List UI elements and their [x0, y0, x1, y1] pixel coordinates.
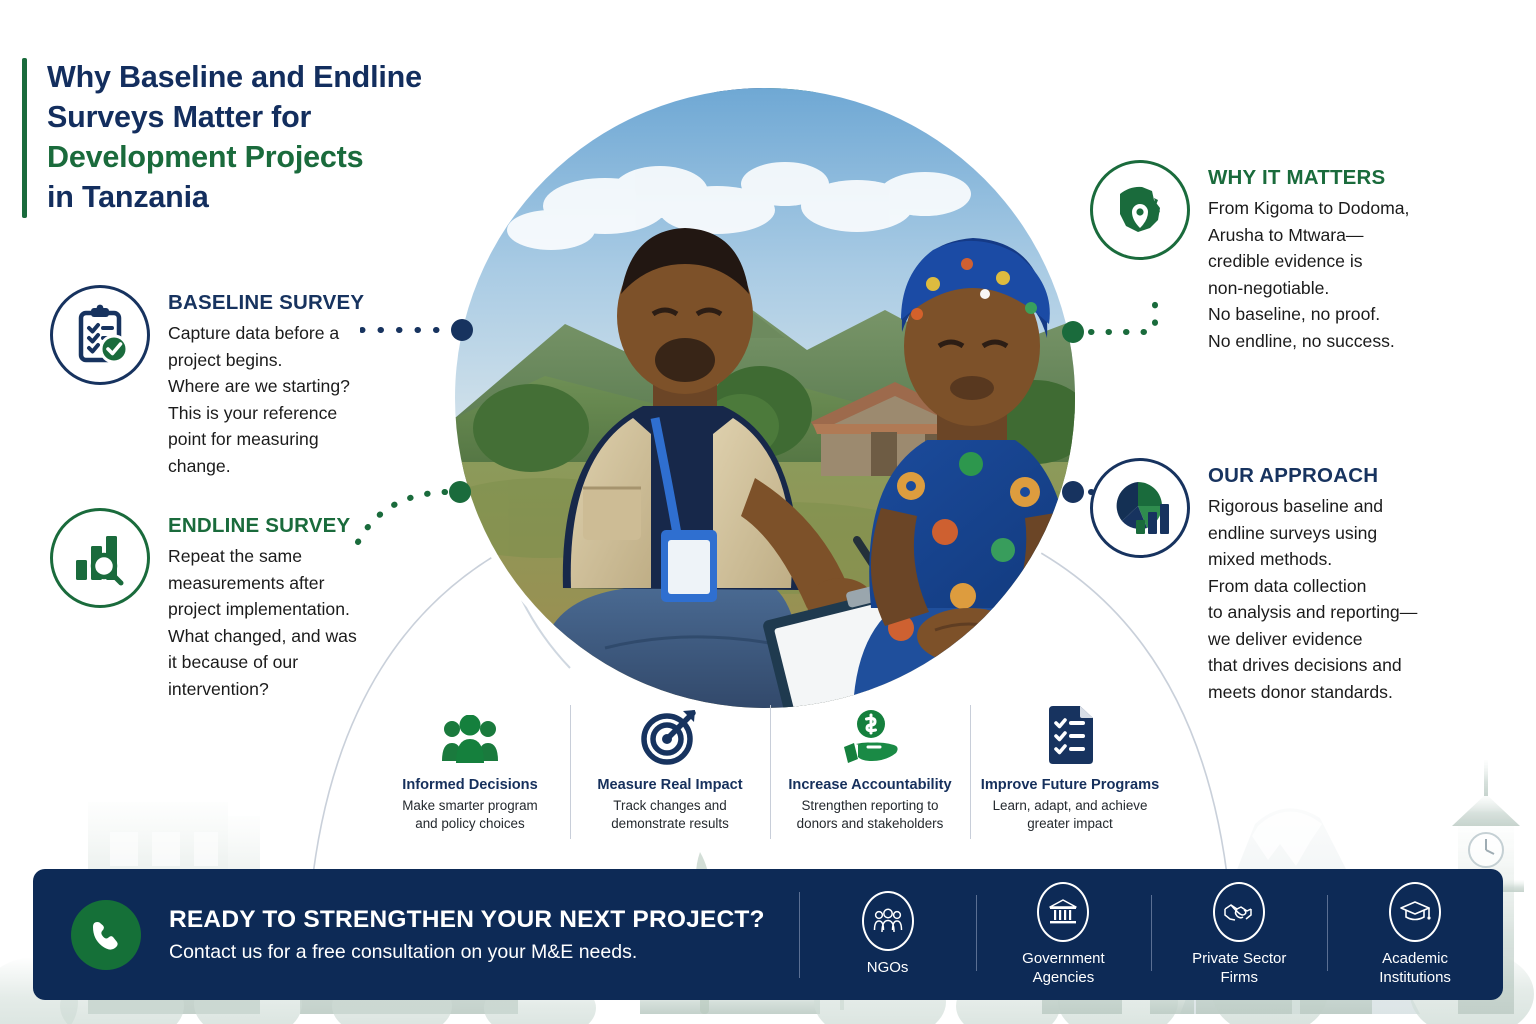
infographic-canvas: Why Baseline and Endline Surveys Matter … — [0, 0, 1536, 1024]
benefit-measure-real-impact: Measure Real Impact Track changes and de… — [570, 697, 770, 857]
title-accent-bar — [22, 58, 27, 218]
benefit-subtitle: Learn, adapt, and achieve greater impact — [993, 797, 1148, 833]
benefits-row: Informed Decisions Make smarter program … — [370, 697, 1170, 857]
why-it-matters-heading: WHY IT MATTERS — [1208, 166, 1508, 190]
government-building-icon — [1037, 882, 1089, 942]
pie-bar-chart-icon — [1090, 458, 1190, 558]
endline-heading: ENDLINE SURVEY — [168, 514, 418, 538]
baseline-survey-block: BASELINE SURVEY Capture data before a pr… — [50, 285, 450, 479]
title-line-2: Surveys Matter for — [47, 100, 311, 134]
phone-icon[interactable] — [71, 900, 141, 970]
benefit-informed-decisions: Informed Decisions Make smarter program … — [370, 697, 570, 857]
tanzania-map-pin-icon — [1090, 160, 1190, 260]
people-group-icon — [439, 697, 501, 765]
audience-ngos[interactable]: NGOs — [800, 869, 976, 1000]
clipboard-check-icon — [50, 285, 150, 385]
cta-subline: Contact us for a free consultation on yo… — [169, 941, 765, 964]
graduation-cap-icon — [1389, 882, 1441, 942]
benefit-subtitle: Strengthen reporting to donors and stake… — [797, 797, 944, 833]
benefit-title: Informed Decisions — [402, 777, 537, 793]
handshake-icon — [1213, 882, 1265, 942]
target-arrow-icon — [641, 697, 699, 765]
audience-academic-institutions[interactable]: Academic Institutions — [1327, 869, 1503, 1000]
audience-label: Private Sector Firms — [1192, 949, 1286, 987]
page-title: Why Baseline and Endline Surveys Matter … — [22, 58, 422, 218]
why-it-matters-body: From Kigoma to Dodoma, Arusha to Mtwara—… — [1208, 195, 1508, 354]
checklist-document-icon — [1045, 697, 1095, 765]
endline-body: Repeat the same measurements after proje… — [168, 543, 418, 702]
our-approach-heading: OUR APPROACH — [1208, 464, 1508, 488]
audience-label: NGOs — [867, 958, 909, 977]
benefit-title: Increase Accountability — [788, 777, 951, 793]
our-approach-block: OUR APPROACH Rigorous baseline and endli… — [1090, 458, 1520, 706]
benefit-subtitle: Track changes and demonstrate results — [611, 797, 729, 833]
benefit-increase-accountability: Increase Accountability Strengthen repor… — [770, 697, 970, 857]
our-approach-body: Rigorous baseline and endline surveys us… — [1208, 493, 1508, 706]
audience-label: Government Agencies — [1022, 949, 1105, 987]
audience-government-agencies[interactable]: Government Agencies — [976, 869, 1152, 1000]
baseline-body: Capture data before a project begins. Wh… — [168, 320, 418, 479]
ngo-people-icon — [862, 891, 914, 951]
audience-list: NGOs Government Agencies — [800, 869, 1503, 1000]
endline-survey-block: ENDLINE SURVEY Repeat the same measureme… — [50, 508, 450, 702]
title-line-4: in Tanzania — [47, 180, 209, 214]
benefit-title: Improve Future Programs — [981, 777, 1159, 793]
audience-private-sector-firms[interactable]: Private Sector Firms — [1151, 869, 1327, 1000]
benefit-title: Measure Real Impact — [597, 777, 742, 793]
cta-text-group: READY TO STRENGTHEN YOUR NEXT PROJECT? C… — [169, 906, 765, 964]
field-survey-illustration — [455, 88, 1075, 708]
audience-label: Academic Institutions — [1379, 949, 1451, 987]
title-text: Why Baseline and Endline Surveys Matter … — [47, 58, 422, 218]
hero-photo — [455, 88, 1075, 708]
benefit-improve-future-programs: Improve Future Programs Learn, adapt, an… — [970, 697, 1170, 857]
cta-banner[interactable]: READY TO STRENGTHEN YOUR NEXT PROJECT? C… — [33, 869, 1503, 1000]
title-line-1: Why Baseline and Endline — [47, 60, 422, 94]
title-line-3: Development Projects — [47, 140, 363, 174]
baseline-heading: BASELINE SURVEY — [168, 291, 418, 315]
benefit-subtitle: Make smarter program and policy choices — [402, 797, 537, 833]
bar-chart-magnifier-icon — [50, 508, 150, 608]
hand-money-icon — [838, 697, 902, 765]
why-it-matters-block: WHY IT MATTERS From Kigoma to Dodoma, Ar… — [1090, 160, 1520, 354]
cta-headline: READY TO STRENGTHEN YOUR NEXT PROJECT? — [169, 906, 765, 934]
